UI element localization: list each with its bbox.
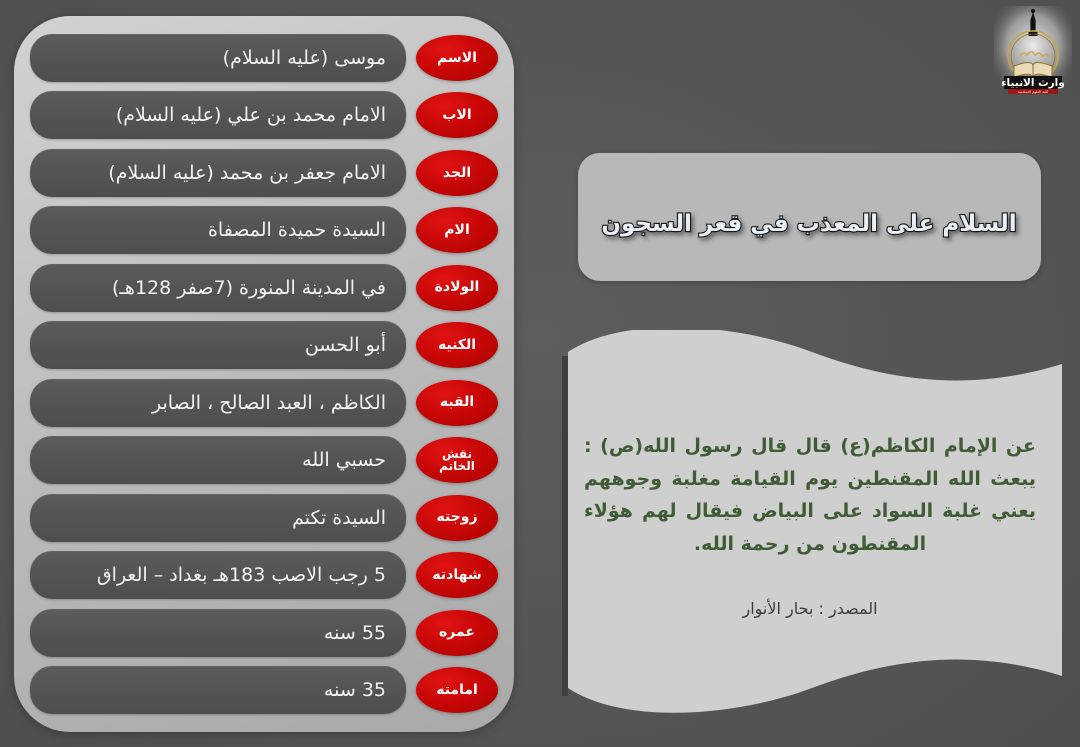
row-label-badge: امامته <box>416 667 498 713</box>
info-row: زوجتهالسيدة تكتم <box>30 494 498 542</box>
hadith-quote-text: عن الإمام الكاظم(ع) قال قال رسول الله(ص)… <box>584 430 1036 561</box>
row-value-field: 5 رجب الاصب 183هـ بغداد – العراق <box>30 551 406 599</box>
row-label-badge: الام <box>416 207 498 253</box>
info-row: عمره55 سنه <box>30 609 498 657</box>
row-label-badge: الاسم <box>416 35 498 81</box>
hadith-panel: عن الإمام الكاظم(ع) قال قال رسول الله(ص)… <box>562 330 1062 730</box>
warith-al-anbiya-university-logo: وارث الانبياء كلية العلوم الاسلامية <box>994 6 1072 94</box>
row-value-field: الامام محمد بن علي (عليه السلام) <box>30 91 406 139</box>
row-label-badge: الكنيه <box>416 322 498 368</box>
info-row: نقش الخاتمحسبي الله <box>30 436 498 484</box>
info-row: الجدالامام جعفر بن محمد (عليه السلام) <box>30 149 498 197</box>
row-label-badge: الجد <box>416 150 498 196</box>
row-value-field: السيدة تكتم <box>30 494 406 542</box>
info-row: الاسمموسى (عليه السلام) <box>30 34 498 82</box>
row-value-field: الامام جعفر بن محمد (عليه السلام) <box>30 149 406 197</box>
poster-canvas: الاسمموسى (عليه السلام)الابالامام محمد ب… <box>0 0 1080 747</box>
info-row: القبهالكاظم ، العبد الصالح ، الصابر <box>30 379 498 427</box>
row-value-field: 55 سنه <box>30 609 406 657</box>
row-value-field: أبو الحسن <box>30 321 406 369</box>
calligraphy-phrase: السلام على المعذب في قعر السجون <box>601 211 1016 237</box>
calligraphy-artwork: السلام على المعذب في قعر السجون <box>582 157 1037 277</box>
info-row: امامته35 سنه <box>30 666 498 714</box>
row-label-badge: زوجته <box>416 495 498 541</box>
info-panel: الاسمموسى (عليه السلام)الابالامام محمد ب… <box>14 16 514 732</box>
row-value-field: 35 سنه <box>30 666 406 714</box>
row-label-badge: الولادة <box>416 265 498 311</box>
row-label-badge: عمره <box>416 610 498 656</box>
hadith-source-text: المصدر : بحار الأنوار <box>584 599 1036 618</box>
info-row: الكنيهأبو الحسن <box>30 321 498 369</box>
logo-sub-text: كلية العلوم الاسلامية <box>1018 90 1049 94</box>
info-rows-list: الاسمموسى (عليه السلام)الابالامام محمد ب… <box>30 34 498 714</box>
logo-emblem-icon: وارث الانبياء كلية العلوم الاسلامية <box>994 6 1072 94</box>
row-value-field: السيدة حميدة المصفاة <box>30 206 406 254</box>
logo-arabic-name: وارث الانبياء <box>1001 77 1065 89</box>
info-row: شهادته5 رجب الاصب 183هـ بغداد – العراق <box>30 551 498 599</box>
info-row: الابالامام محمد بن علي (عليه السلام) <box>30 91 498 139</box>
info-row: الولادةفي المدينة المنورة (7صفر 128هـ) <box>30 264 498 312</box>
row-value-field: الكاظم ، العبد الصالح ، الصابر <box>30 379 406 427</box>
row-value-field: حسبي الله <box>30 436 406 484</box>
row-value-field: موسى (عليه السلام) <box>30 34 406 82</box>
row-value-field: في المدينة المنورة (7صفر 128هـ) <box>30 264 406 312</box>
row-label-badge: القبه <box>416 380 498 426</box>
hadith-content: عن الإمام الكاظم(ع) قال قال رسول الله(ص)… <box>584 430 1036 618</box>
row-label-badge: نقش الخاتم <box>416 437 498 483</box>
row-label-badge: الاب <box>416 92 498 138</box>
info-row: الامالسيدة حميدة المصفاة <box>30 206 498 254</box>
calligraphy-banner: السلام على المعذب في قعر السجون <box>578 153 1041 281</box>
row-label-badge: شهادته <box>416 552 498 598</box>
